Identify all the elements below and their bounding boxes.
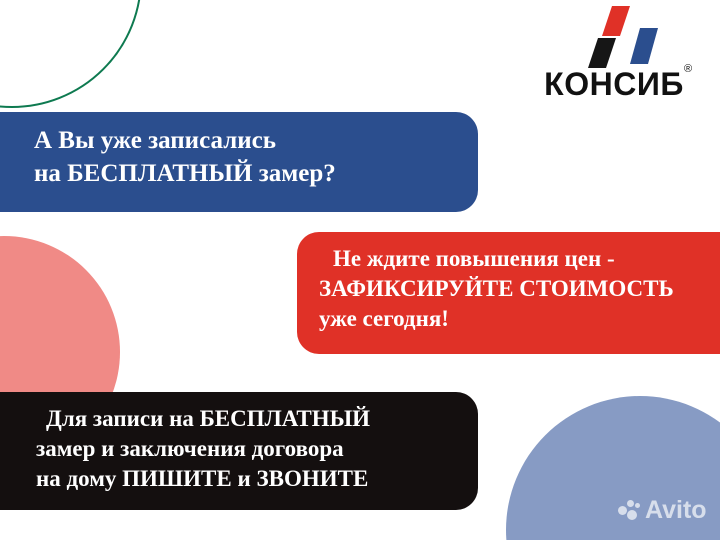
promo-banner: КОНСИБ ® А Вы уже записались на БЕСПЛАТН…: [0, 0, 720, 540]
red-line-1: Не ждите повышения цен -: [319, 244, 720, 274]
avito-wordmark: Avito: [645, 498, 707, 523]
blue-headline-line-1: А Вы уже записались: [34, 125, 458, 158]
red-urgency-block: Не ждите повышения цен - ЗАФИКСИРУЙТЕ СТ…: [297, 232, 720, 354]
red-line-3: уже сегодня!: [319, 304, 720, 334]
black-line-3: на дому ПИШИТЕ и ЗВОНИТЕ: [36, 464, 462, 494]
company-wordmark: КОНСИБ: [524, 68, 704, 100]
blue-headline-block: А Вы уже записались на БЕСПЛАТНЫЙ замер?: [0, 112, 478, 212]
avito-watermark: Avito: [618, 498, 707, 523]
red-line-2: ЗАФИКСИРУЙТЕ СТОИМОСТЬ: [319, 274, 720, 304]
avito-dots-icon: [618, 500, 640, 522]
black-line-2: замер и заключения договора: [36, 434, 462, 464]
blue-headline-line-2: на БЕСПЛАТНЫЙ замер?: [34, 158, 458, 191]
black-line-1: Для записи на БЕСПЛАТНЫЙ: [36, 404, 462, 434]
black-cta-block: Для записи на БЕСПЛАТНЫЙ замер и заключе…: [0, 392, 478, 510]
green-ring-decoration: [0, 0, 142, 108]
company-logo: КОНСИБ ®: [524, 6, 704, 110]
konsib-logo-mark-icon: [582, 6, 668, 68]
registered-trademark-mark: ®: [684, 64, 692, 75]
